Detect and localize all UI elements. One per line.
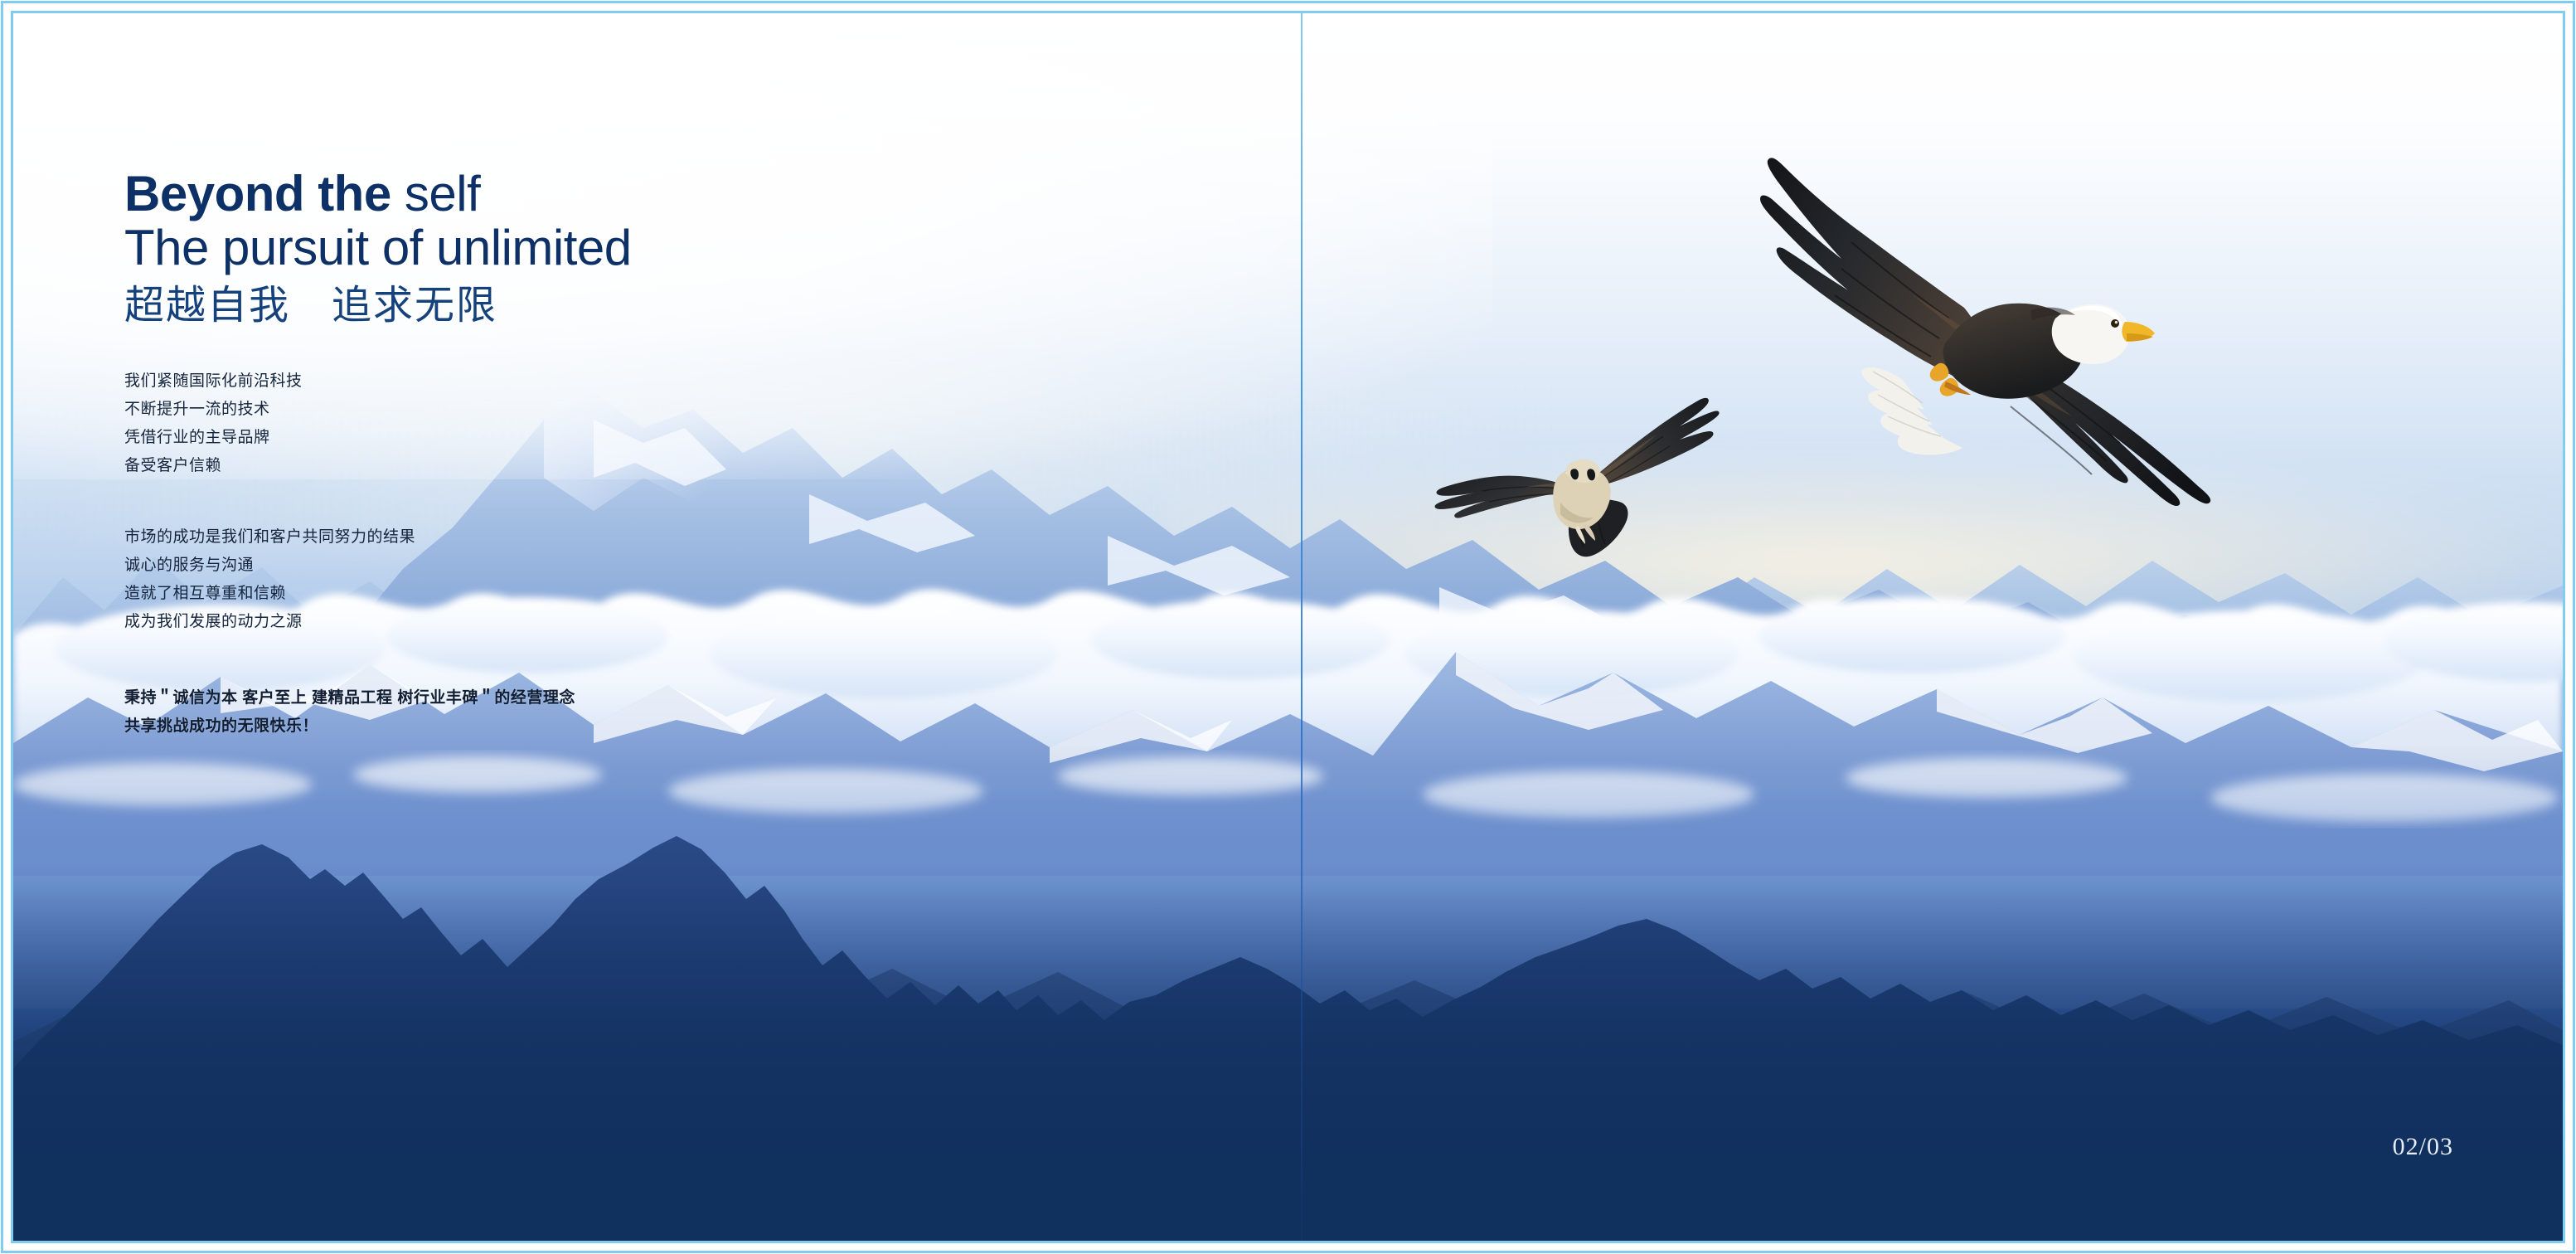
paragraph-technology-line-2: 不断提升一流的技术 <box>124 396 1036 424</box>
headline-line-chinese: 超越自我 追求无限 <box>124 280 1036 332</box>
copy-block: Beyond the self The pursuit of unlimited… <box>124 168 1036 741</box>
paragraph-technology-line-3: 凭借行业的主导品牌 <box>124 424 1036 452</box>
paragraph-motto: 秉持＂诚信为本 客户至上 建精品工程 树行业丰碑＂的经营理念 共享挑战成功的无限… <box>124 684 1036 741</box>
artwork-canvas: Beyond the self The pursuit of unlimited… <box>13 13 2563 1241</box>
paragraph-motto-line-2: 共享挑战成功的无限快乐！ <box>124 712 1036 741</box>
center-fold-line <box>1301 13 1303 1241</box>
paragraph-market-line-4: 成为我们发展的动力之源 <box>124 608 1036 636</box>
bald-eagle-large <box>1700 96 2264 610</box>
paragraph-motto-line-1: 秉持＂诚信为本 客户至上 建精品工程 树行业丰碑＂的经营理念 <box>124 684 1036 712</box>
paragraph-technology: 我们紧随国际化前沿科技 不断提升一流的技术 凭借行业的主导品牌 备受客户信赖 <box>124 367 1036 480</box>
paragraph-market-line-1: 市场的成功是我们和客户共同努力的结果 <box>124 523 1036 552</box>
paragraph-market: 市场的成功是我们和客户共同努力的结果 诚心的服务与沟通 造就了相互尊重和信赖 成… <box>124 523 1036 636</box>
headline-line-1-bold: Beyond the <box>124 166 391 221</box>
headline-line-2: The pursuit of unlimited <box>124 220 1036 275</box>
eagle-small <box>1428 378 1726 586</box>
paragraph-technology-line-4: 备受客户信赖 <box>124 452 1036 480</box>
headline-line-1-light: self <box>391 166 481 221</box>
paragraph-market-line-2: 诚心的服务与沟通 <box>124 552 1036 580</box>
paragraph-market-line-3: 造就了相互尊重和信赖 <box>124 580 1036 608</box>
page-number: 02/03 <box>2393 1133 2453 1161</box>
brochure-spread: Beyond the self The pursuit of unlimited… <box>0 0 2576 1254</box>
bottom-navy-fade <box>13 884 2563 1241</box>
paragraph-technology-line-1: 我们紧随国际化前沿科技 <box>124 367 1036 396</box>
headline-line-1: Beyond the self <box>124 168 1036 220</box>
